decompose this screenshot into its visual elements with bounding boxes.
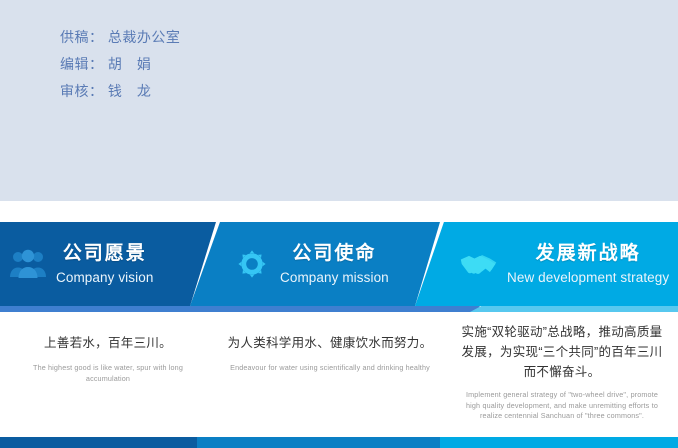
gear-icon [232,247,272,281]
bottom-segment-strategy [440,437,678,448]
banner-title-en-company-mission: Company mission [280,271,389,285]
banner-title-en-new-development-strategy: New development strategy [507,271,669,285]
content-cn-company-vision: 上善若水，百年三川。 [14,334,202,353]
banner-title-en-company-vision: Company vision [56,271,153,285]
banner-column-new-development-strategy[interactable]: 发展新战略 New development strategy [415,222,678,306]
credit-line-editor: 编辑： 胡 娟 [60,51,180,78]
handshake-icon [459,247,499,281]
people-group-icon [8,247,48,281]
banner-title-cn-new-development-strategy: 发展新战略 [536,243,641,264]
content-en-company-vision: The highest good is like water, spur wit… [14,362,202,384]
bottom-segment-vision [0,437,197,448]
content-cn-company-mission: 为人类科学用水、健康饮水而努力。 [226,334,434,353]
bottom-color-strip [0,437,678,448]
content-row: 上善若水，百年三川。 The highest good is like wate… [0,312,678,424]
content-column-company-vision: 上善若水，百年三川。 The highest good is like wate… [0,312,216,424]
vision-mission-strategy-banner: 公司愿景 Company vision 公司使命 Company mission [0,222,678,306]
credits-panel: 供稿： 总裁办公室 编辑： 胡 娟 审核： 钱 龙 [0,0,678,201]
content-column-company-mission: 为人类科学用水、健康饮水而努力。 Endeavour for water usi… [216,312,444,424]
content-column-new-development-strategy: 实施“双轮驱动”总战略，推动高质量发展，为实现“三个共同”的百年三川而不懈奋斗。… [444,312,678,424]
banner-title-cn-company-vision: 公司愿景 [63,243,147,264]
bottom-segment-mission [197,437,440,448]
banner-text-new-development-strategy: 发展新战略 New development strategy [507,244,669,285]
banner-column-company-vision[interactable]: 公司愿景 Company vision [0,222,216,306]
content-cn-new-development-strategy: 实施“双轮驱动”总战略，推动高质量发展，为实现“三个共同”的百年三川而不懈奋斗。 [458,322,666,382]
banner-text-company-vision: 公司愿景 Company vision [56,244,153,285]
banner-text-company-mission: 公司使命 Company mission [280,244,389,285]
banner-title-cn-company-mission: 公司使命 [292,243,376,264]
banner-column-company-mission[interactable]: 公司使命 Company mission [190,222,440,306]
credits-list: 供稿： 总裁办公室 编辑： 胡 娟 审核： 钱 龙 [60,24,180,105]
section-divider-gap [0,201,678,222]
content-en-new-development-strategy: Implement general strategy of "two-wheel… [458,390,666,422]
credit-line-reviewer: 审核： 钱 龙 [60,78,180,105]
credit-line-contributor: 供稿： 总裁办公室 [60,24,180,51]
content-en-company-mission: Endeavour for water using scientifically… [226,362,434,373]
